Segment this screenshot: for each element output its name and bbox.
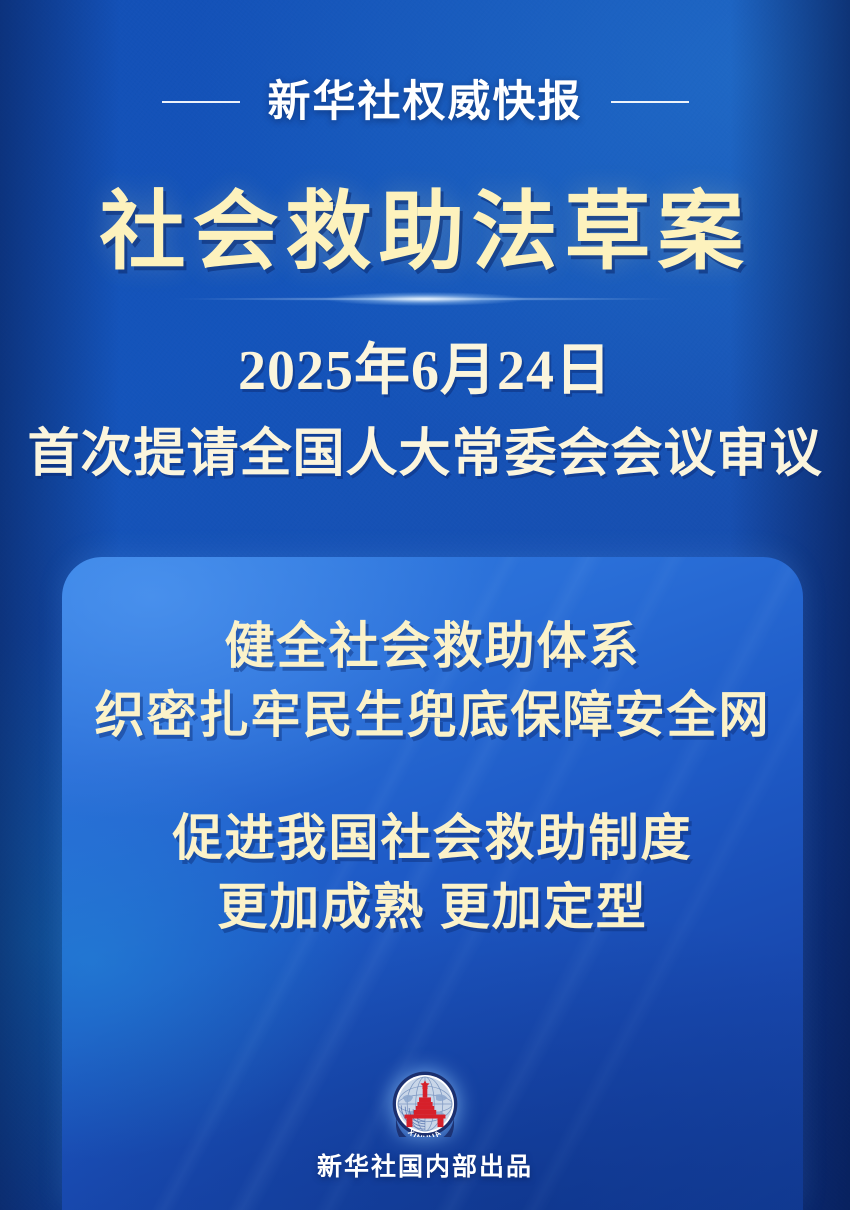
subtitle-date: 2025年6月24日 — [0, 338, 850, 404]
stanza-one-line-2: 织密扎牢民生兜底保障安全网 — [62, 681, 803, 750]
page-title: 社会救助法草案 — [0, 186, 850, 279]
subtitle-line: 首次提请全国人大常委会会议审议 — [0, 424, 850, 486]
header-kicker-row: 新华社权威快报 — [0, 72, 850, 132]
content-card-body: 健全社会救助体系 织密扎牢民生兜底保障安全网 促进我国社会救助制度 更加成熟 更… — [62, 557, 803, 942]
footer: XINHUA 新华社国内部出品 — [0, 1071, 850, 1180]
poster-root: 新华社权威快报 社会救助法草案 2025年6月24日 首次提请全国人大常委会会议… — [0, 0, 850, 1210]
stanza-one: 健全社会救助体系 织密扎牢民生兜底保障安全网 — [62, 612, 803, 750]
title-flare-decoration — [125, 284, 725, 314]
stanza-one-line-1: 健全社会救助体系 — [62, 612, 803, 681]
kicker-label: 新华社权威快报 — [268, 81, 583, 124]
subtitle-block: 2025年6月24日 首次提请全国人大常委会会议审议 — [0, 338, 850, 486]
rule-right-icon — [611, 101, 689, 103]
xinhua-logo-icon: XINHUA — [392, 1071, 458, 1137]
footer-caption: 新华社国内部出品 — [317, 1155, 533, 1180]
stanza-two: 促进我国社会救助制度 更加成熟 更加定型 — [62, 804, 803, 942]
stanza-two-line-2: 更加成熟 更加定型 — [62, 873, 803, 942]
stanza-two-line-1: 促进我国社会救助制度 — [62, 804, 803, 873]
rule-left-icon — [162, 101, 240, 103]
